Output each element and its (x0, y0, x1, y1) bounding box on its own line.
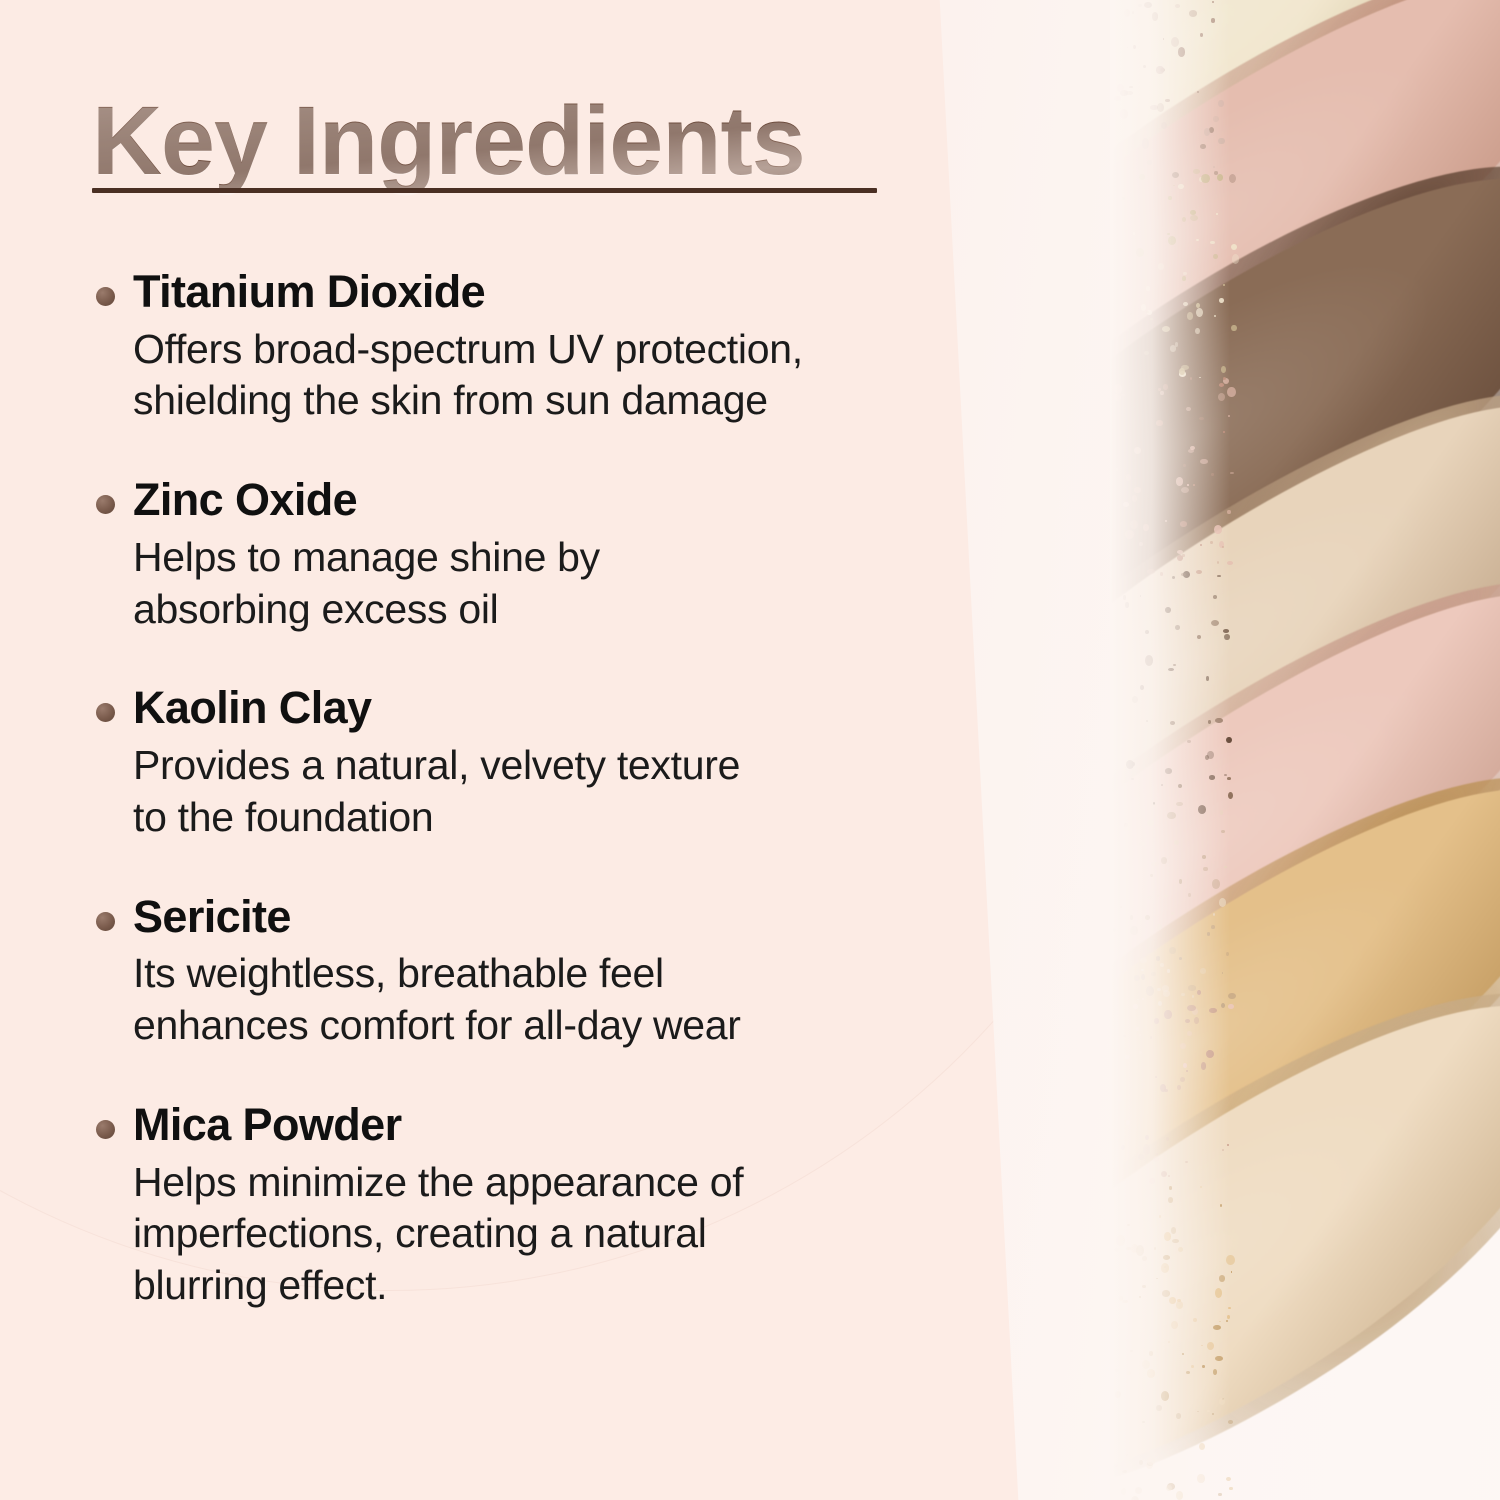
dot-bullet-icon (96, 912, 115, 931)
ingredient-name: Titanium Dioxide (133, 265, 1030, 320)
page-title: Key Ingredients (92, 92, 882, 191)
dot-bullet-icon (96, 287, 115, 306)
ingredient-description: Helps to manage shine by absorbing exces… (133, 532, 1030, 635)
ingredient-body: Zinc OxideHelps to manage shine by absor… (133, 473, 1030, 635)
powder-swatch-image (1110, 0, 1500, 1500)
dot-bullet-icon (96, 495, 115, 514)
ingredient-body: SericiteIts weightless, breathable feel … (133, 890, 1030, 1052)
content-column: Key Ingredients Titanium DioxideOffers b… (0, 0, 1030, 1500)
ingredient-item: Titanium DioxideOffers broad-spectrum UV… (92, 265, 1030, 427)
page-title-block: Key Ingredients (92, 92, 882, 191)
ingredient-body: Mica PowderHelps minimize the appearance… (133, 1098, 1030, 1312)
ingredient-name: Sericite (133, 890, 1030, 945)
ingredient-description: Provides a natural, velvety texture to t… (133, 740, 1030, 843)
infographic-canvas: Key Ingredients Titanium DioxideOffers b… (0, 0, 1500, 1500)
ingredient-list: Titanium DioxideOffers broad-spectrum UV… (92, 265, 1030, 1312)
dot-bullet-icon (96, 703, 115, 722)
ingredient-description: Offers broad-spectrum UV protection, shi… (133, 324, 1030, 427)
ingredient-name: Zinc Oxide (133, 473, 1030, 528)
dot-bullet-icon (96, 1120, 115, 1139)
swatch-edge-fade (1110, 0, 1230, 1500)
ingredient-item: SericiteIts weightless, breathable feel … (92, 890, 1030, 1052)
ingredient-name: Mica Powder (133, 1098, 1030, 1153)
ingredient-description: Its weightless, breathable feel enhances… (133, 948, 1030, 1051)
ingredient-body: Kaolin ClayProvides a natural, velvety t… (133, 681, 1030, 843)
ingredient-description: Helps minimize the appearance of imperfe… (133, 1157, 1030, 1312)
ingredient-item: Mica PowderHelps minimize the appearance… (92, 1098, 1030, 1312)
ingredient-body: Titanium DioxideOffers broad-spectrum UV… (133, 265, 1030, 427)
ingredient-item: Kaolin ClayProvides a natural, velvety t… (92, 681, 1030, 843)
ingredient-name: Kaolin Clay (133, 681, 1030, 736)
title-underline (92, 188, 877, 193)
ingredient-item: Zinc OxideHelps to manage shine by absor… (92, 473, 1030, 635)
